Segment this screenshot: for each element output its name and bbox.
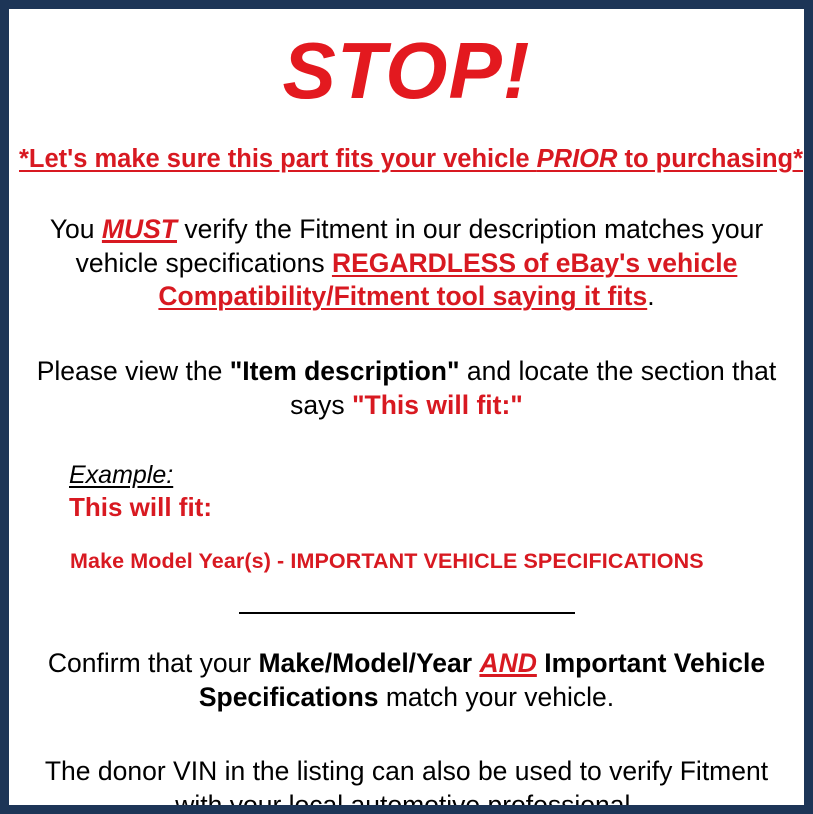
divider-wrapper (19, 604, 794, 622)
item-description-emphasis: "Item description" (230, 356, 460, 386)
must-emphasis: MUST (102, 214, 177, 244)
paragraph-must: You MUST verify the Fitment in our descr… (19, 213, 794, 315)
paragraph-vin: The donor VIN in the listing can also be… (19, 755, 794, 814)
and-emphasis: AND (479, 648, 536, 678)
paragraph-view-description: Please view the "Item description" and l… (19, 355, 794, 423)
notice-content: STOP! *Let's make sure this part fits yo… (9, 31, 804, 814)
must-text-1: You (50, 214, 102, 244)
make-model-year-emphasis: Make/Model/Year (258, 648, 472, 678)
fitment-notice-card: STOP! *Let's make sure this part fits yo… (0, 0, 813, 814)
subtitle-line: *Let's make sure this part fits your veh… (19, 144, 794, 175)
view-text-1: Please view the (37, 356, 230, 386)
example-block: Example: This will fit: Make Model Year(… (19, 461, 794, 574)
subtitle-emphasis: PRIOR (537, 145, 618, 173)
confirm-text-2: match your vehicle. (379, 682, 615, 712)
this-will-fit-emphasis: "This will fit:" (352, 390, 523, 420)
paragraph-confirm: Confirm that your Make/Model/Year AND Im… (19, 647, 794, 715)
subtitle-text-before: *Let's make sure this part fits your veh… (19, 145, 537, 173)
horizontal-divider (239, 612, 575, 614)
must-text-3: . (647, 281, 654, 311)
example-label: Example: (69, 461, 794, 490)
subtitle-text-after: to purchasing* (617, 145, 803, 173)
example-fit-heading: This will fit: (69, 492, 794, 523)
page-title: STOP! (19, 31, 794, 111)
example-spec-line: Make Model Year(s) - IMPORTANT VEHICLE S… (69, 549, 794, 574)
confirm-text-1: Confirm that your (48, 648, 259, 678)
